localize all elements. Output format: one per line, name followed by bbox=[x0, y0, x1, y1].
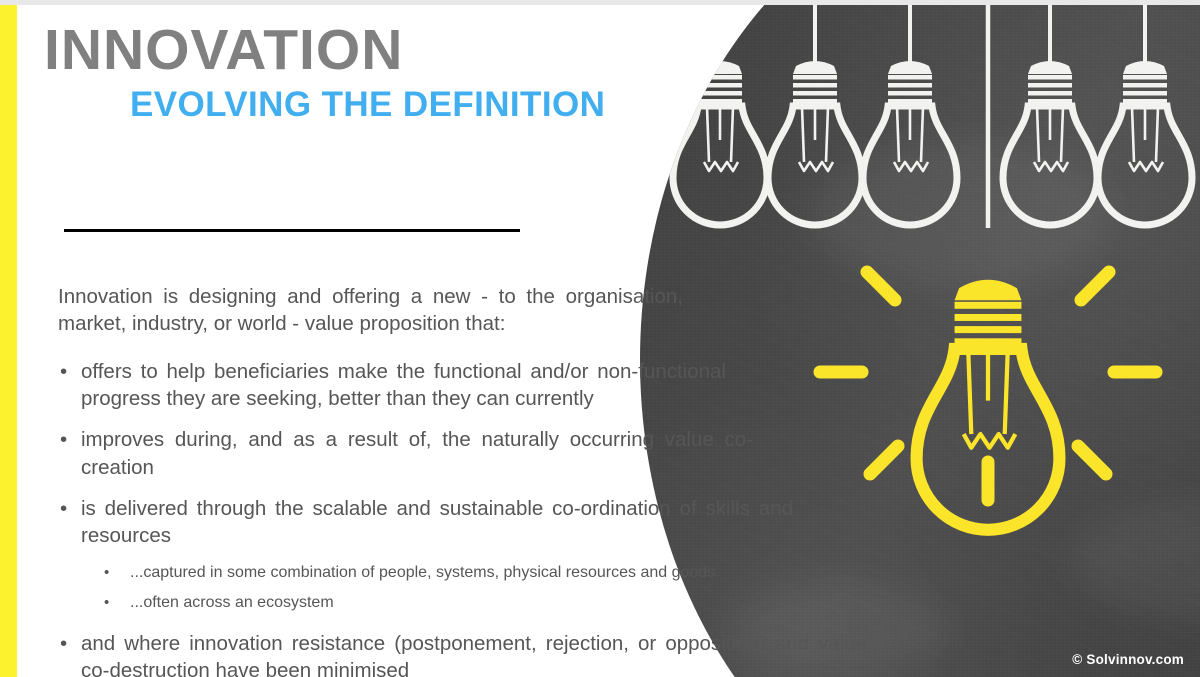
chalk-smudge bbox=[810, 140, 1110, 290]
title-divider-rule bbox=[64, 229, 520, 232]
chalk-smudge bbox=[1070, 500, 1200, 620]
list-item-label: offers to help beneficiaries make the fu… bbox=[81, 360, 726, 410]
sub-list-item-label: ...often across an ecosystem bbox=[130, 594, 334, 611]
bullet-dot-icon: • bbox=[60, 358, 67, 385]
sub-list-item-label: ...captured in some combination of peopl… bbox=[130, 564, 715, 581]
list-item-label: is delivered through the scalable and su… bbox=[81, 497, 793, 547]
list-item-label: improves during, and as a result of, the… bbox=[81, 428, 753, 478]
bullet-dot-icon: • bbox=[60, 630, 67, 657]
page-subtitle: EVOLVING THE DEFINITION bbox=[130, 87, 605, 122]
definition-bullet-list-final: • and where innovation resistance (postp… bbox=[58, 630, 848, 677]
bullet-dot-icon: • bbox=[60, 426, 67, 453]
title-block: INNOVATION EVOLVING THE DEFINITION bbox=[44, 22, 605, 122]
bullet-dot-icon: • bbox=[104, 593, 109, 613]
definition-lead-text: Innovation is designing and offering a n… bbox=[58, 283, 683, 338]
definition-body: Innovation is designing and offering a n… bbox=[58, 283, 848, 677]
definition-bullet-list: • offers to help beneficiaries make the … bbox=[58, 358, 848, 550]
slide-canvas: INNOVATION EVOLVING THE DEFINITION Innov… bbox=[0, 0, 1200, 677]
bullet-dot-icon: • bbox=[60, 495, 67, 522]
list-item-label: and where innovation resistance (postpon… bbox=[81, 632, 867, 677]
bullet-dot-icon: • bbox=[104, 563, 109, 583]
list-item: • and where innovation resistance (postp… bbox=[58, 630, 867, 677]
list-item: • improves during, and as a result of, t… bbox=[58, 426, 753, 481]
sub-list-item: • ...captured in some combination of peo… bbox=[101, 563, 848, 584]
top-edge-strip bbox=[0, 0, 1200, 5]
copyright-credit: © Solvinnov.com bbox=[1072, 652, 1184, 667]
definition-sub-bullet-list: • ...captured in some combination of peo… bbox=[58, 563, 848, 614]
sub-list-item: • ...often across an ecosystem bbox=[101, 593, 848, 614]
page-title: INNOVATION bbox=[44, 22, 605, 79]
left-accent-bar bbox=[0, 0, 17, 677]
list-item: • offers to help beneficiaries make the … bbox=[58, 358, 726, 413]
list-item: • is delivered through the scalable and … bbox=[58, 495, 793, 550]
